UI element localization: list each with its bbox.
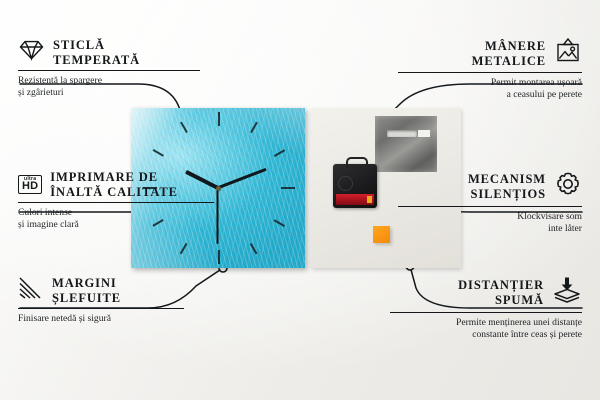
callout-rule — [18, 308, 184, 309]
picture-frame-hanger-icon — [554, 38, 582, 69]
callout-rule — [18, 202, 214, 203]
callout-sub-line1: Permit montarea ușoară — [491, 77, 582, 88]
aa-battery — [336, 194, 374, 205]
diamond-icon — [18, 39, 45, 66]
gear-icon — [554, 170, 582, 203]
callout-title-line2: TEMPERATĂ — [53, 53, 140, 67]
callout-sub-line2: constante între ceas și perete — [472, 329, 582, 340]
callout-sub-line1: Permite menținerea unei distanțe — [456, 317, 582, 328]
callout-tempered-glass: STICLĂ TEMPERATĂ Rezistentă la spargere … — [18, 38, 208, 99]
callout-title-line2: ȘLEFUITE — [52, 291, 121, 305]
movement-dial-ring — [338, 176, 353, 191]
callout-sub-line2: a ceasului pe perete — [507, 89, 582, 100]
clock-tick — [218, 112, 220, 126]
callout-title-line1: STICLĂ — [53, 38, 105, 52]
callout-sub-line1: Klockvisare som — [517, 211, 582, 222]
clock-tick — [281, 187, 295, 189]
clock-movement-mechanism — [333, 164, 377, 208]
callout-title-line2: METALICE — [472, 54, 546, 68]
hanger-slot — [387, 130, 417, 137]
callout-sub-line1: Culori intense — [18, 207, 72, 218]
callout-sub-line2: inte låter — [548, 223, 582, 234]
bevel-edge-icon — [18, 276, 44, 305]
callout-sub-line1: Finisare netedă și sigură — [18, 313, 111, 324]
foam-spacer-pad — [373, 226, 390, 243]
callout-rule — [398, 206, 582, 207]
callout-title-line2: SPUMĂ — [495, 293, 544, 307]
clock-tick — [218, 250, 220, 264]
callout-title-line1: MARGINI — [52, 276, 117, 290]
callout-sub-line2: și zgârieturi — [18, 87, 64, 98]
callout-metal-handles: MÂNERE METALICE Permit montarea ușoară a… — [398, 38, 582, 101]
callout-sub-line1: Rezistentă la spargere — [18, 75, 102, 86]
callout-title-line1: MECANISM — [468, 172, 546, 186]
callout-sub-line2: și imagine clară — [18, 219, 79, 230]
callout-title-line1: DISTANȚIER — [458, 278, 544, 292]
foam-spacer-icon — [552, 276, 582, 309]
callout-high-quality-print: ultra HD IMPRIMARE DE ÎNALTĂ CALITATE Cu… — [18, 170, 218, 231]
callout-title-line1: MÂNERE — [485, 39, 546, 53]
callout-rule — [398, 72, 582, 73]
infographic-canvas: STICLĂ TEMPERATĂ Rezistentă la spargere … — [0, 0, 600, 400]
callout-title-line2: ÎNALTĂ CALITATE — [50, 185, 178, 199]
callout-title-line1: IMPRIMARE DE — [50, 170, 158, 184]
metal-hanger-plate — [375, 116, 437, 172]
callout-rule — [18, 70, 200, 71]
callout-title-line2: SILENȚIOS — [471, 187, 547, 201]
movement-hook — [346, 157, 368, 168]
callout-silent-mechanism: MECANISM SILENȚIOS Klockvisare som inte … — [398, 170, 582, 235]
ultra-hd-icon: ultra HD — [18, 175, 42, 194]
callout-rule — [390, 312, 582, 313]
callout-polished-edges: MARGINI ȘLEFUITE Finisare netedă și sigu… — [18, 276, 198, 325]
callout-foam-spacer: DISTANȚIER SPUMĂ Permite menținerea unei… — [390, 276, 582, 341]
